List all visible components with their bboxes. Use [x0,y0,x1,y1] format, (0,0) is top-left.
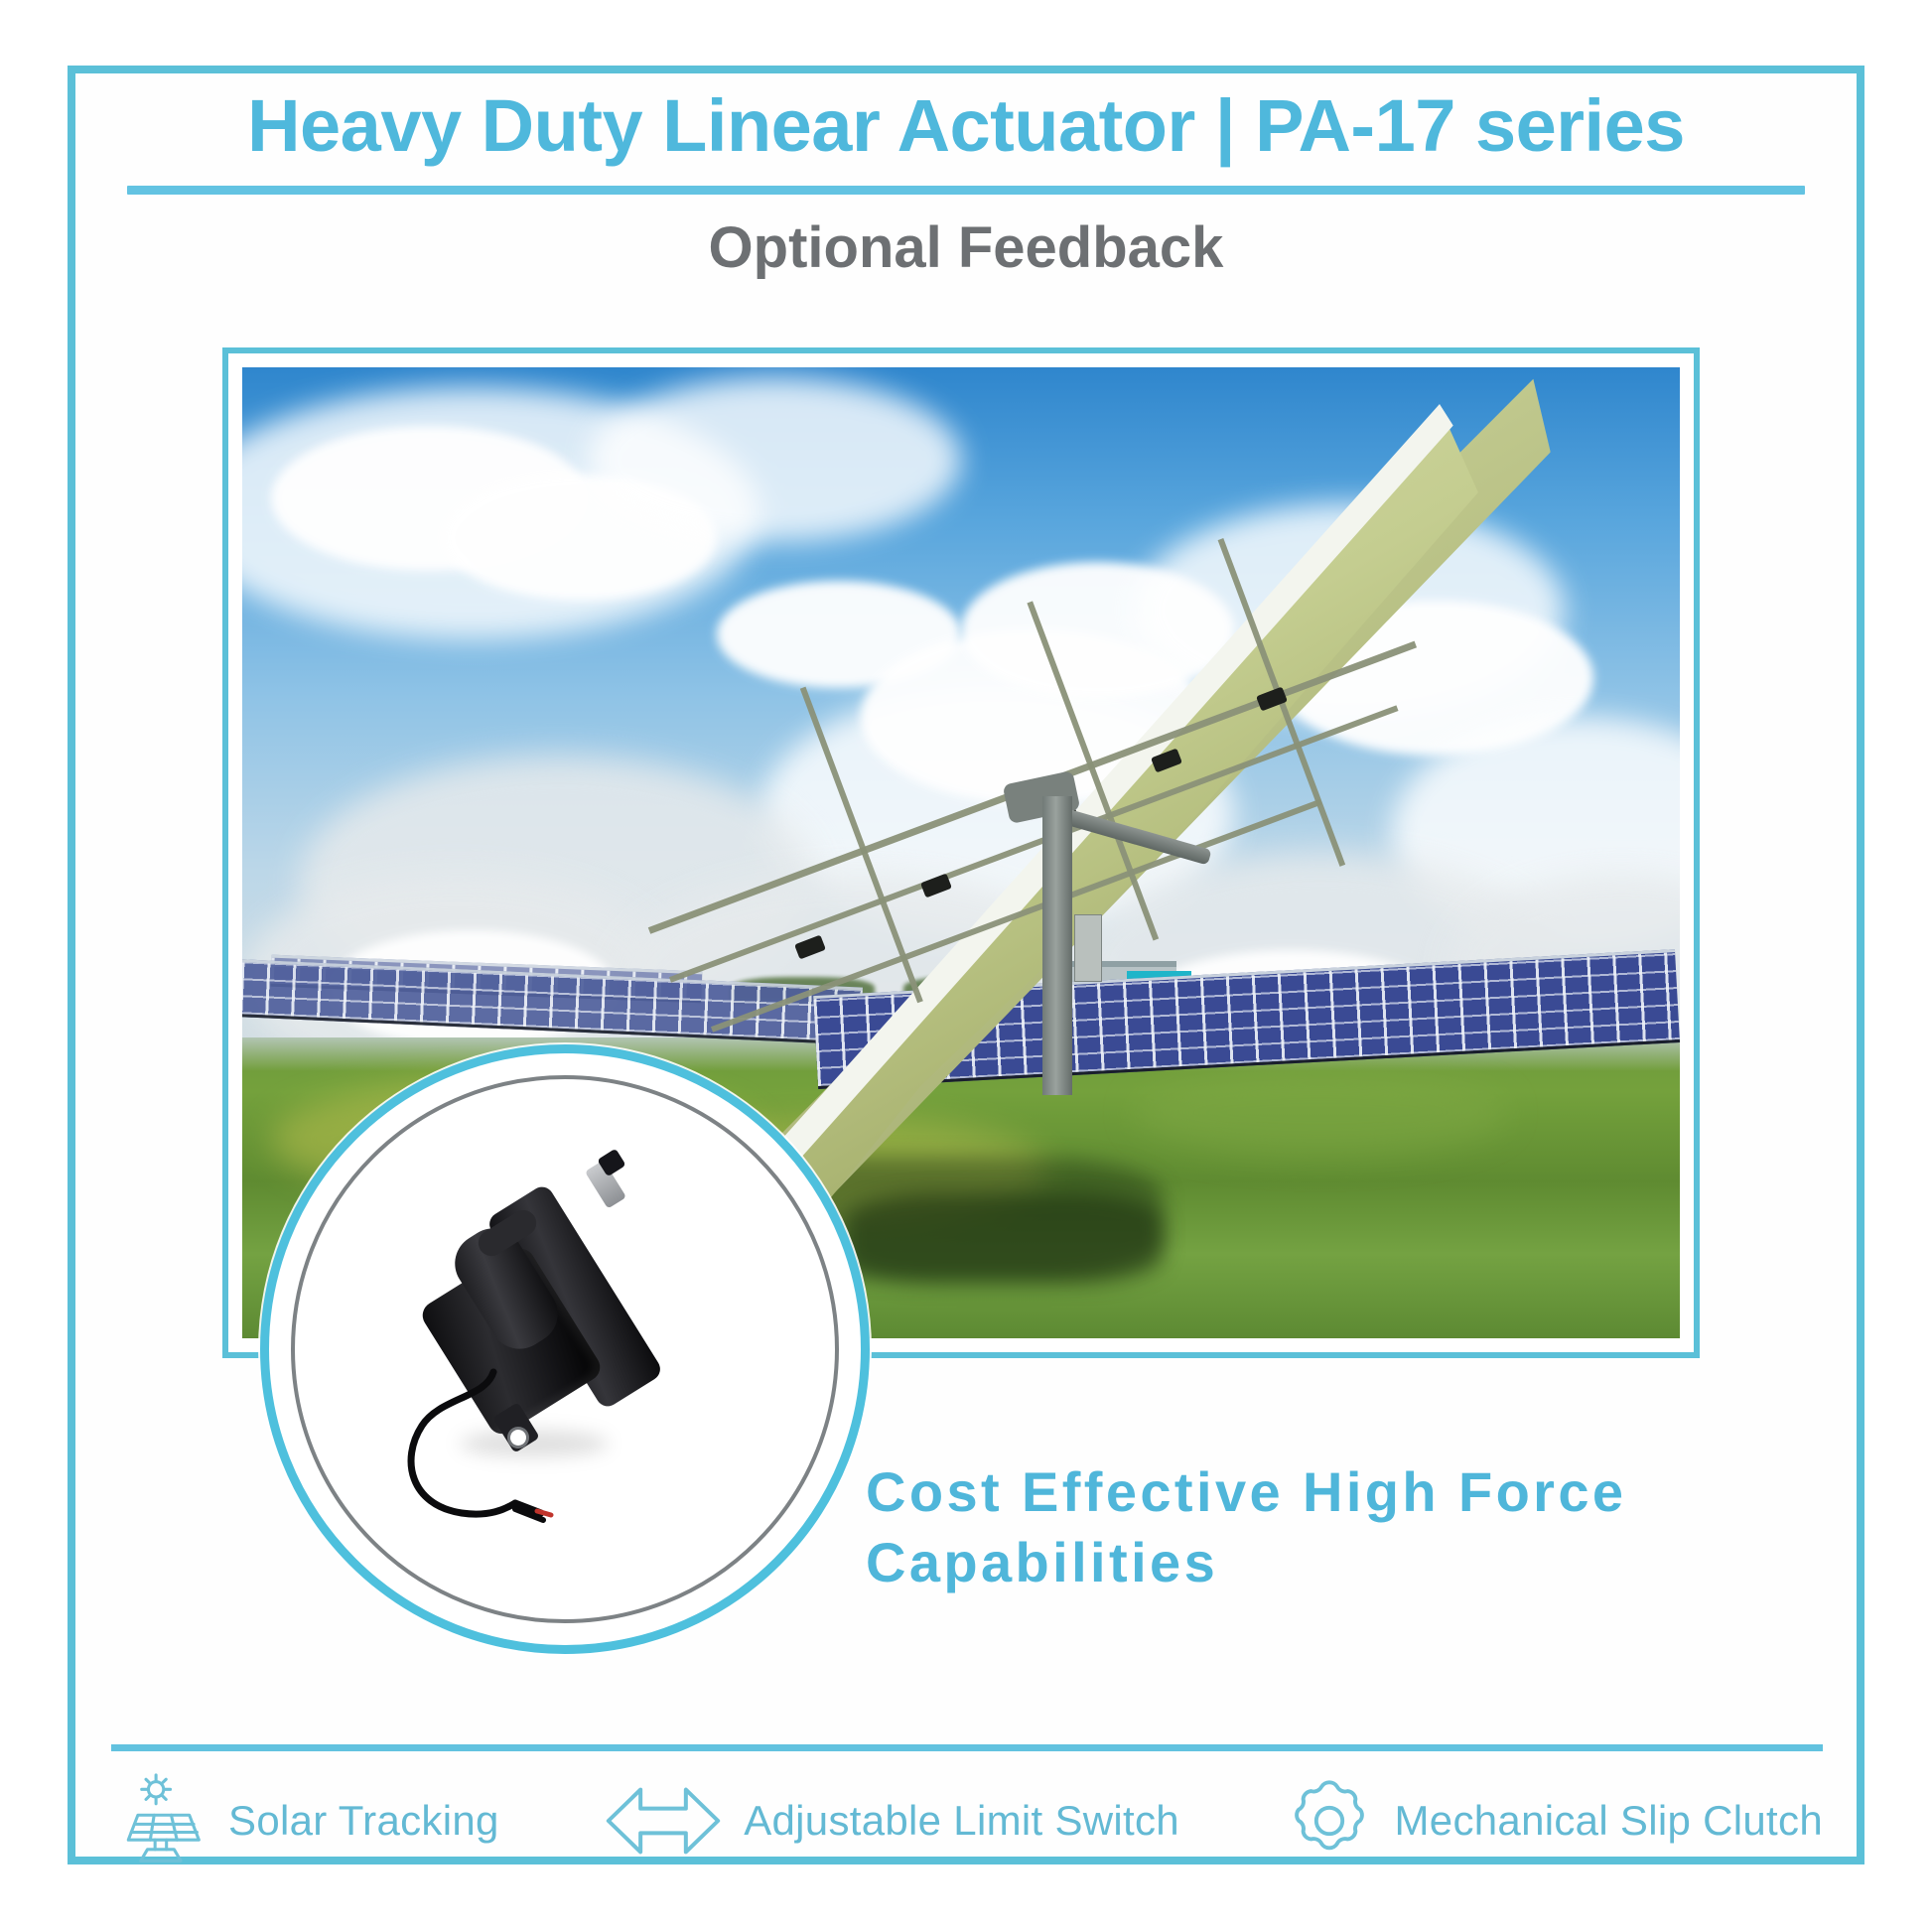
feature-bar-divider [111,1744,1823,1751]
double-arrow-icon [605,1785,722,1857]
feature-solar-tracking: Solar Tracking [111,1773,499,1868]
gear-icon [1286,1777,1373,1864]
tracker-control-box [1074,914,1102,982]
solar-tracker-assembly [544,455,1593,1076]
tagline-line-1: Cost Effective High Force [866,1457,1739,1528]
page-title: Heavy Duty Linear Actuator | PA-17 serie… [68,85,1864,168]
header: Heavy Duty Linear Actuator | PA-17 serie… [68,85,1864,280]
feature-label-adjustable-limit-switch: Adjustable Limit Switch [744,1797,1179,1845]
linear-actuator-image [356,1141,773,1558]
tagline: Cost Effective High Force Capabilities [866,1457,1739,1597]
feedback-cable-icon [366,1364,575,1538]
solar-panel-icon [111,1773,207,1868]
tagline-line-2: Capabilities [866,1528,1739,1598]
feature-label-mechanical-slip-clutch: Mechanical Slip Clutch [1395,1797,1823,1845]
tracker-mast [1042,796,1072,1094]
feature-adjustable-limit-switch: Adjustable Limit Switch [605,1785,1179,1857]
feature-mechanical-slip-clutch: Mechanical Slip Clutch [1286,1777,1823,1864]
product-card-page: Heavy Duty Linear Actuator | PA-17 serie… [0,0,1932,1932]
title-divider [127,186,1805,195]
feature-bar: Solar Tracking Adjustable Limit Switch M… [111,1767,1823,1874]
product-inset-circle [260,1044,870,1654]
feature-label-solar-tracking: Solar Tracking [228,1797,499,1845]
page-subtitle: Optional Feedback [68,216,1864,280]
